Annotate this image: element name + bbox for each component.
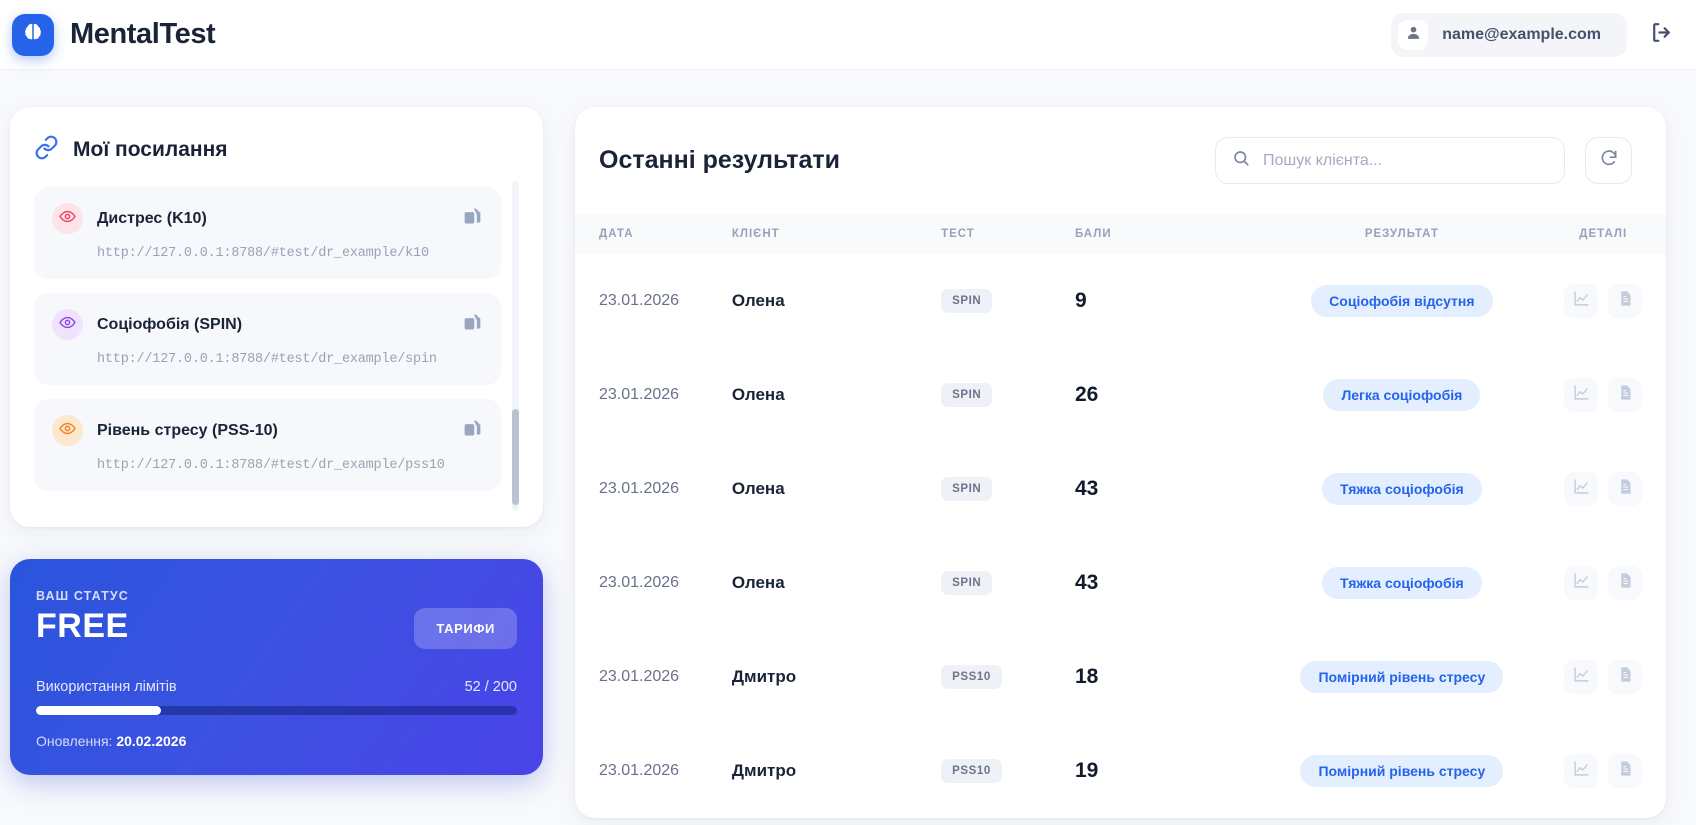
view-chart-button[interactable]: [1564, 284, 1598, 318]
test-tag: PSS10: [941, 759, 1002, 783]
column-header-test[interactable]: ТЕСТ: [941, 214, 1075, 254]
status-badge: Помірний рівень стресу: [1300, 755, 1503, 787]
cell-date: 23.01.2026: [575, 442, 732, 536]
limit-progress-fill: [36, 706, 161, 715]
user-icon: [1405, 24, 1422, 46]
chart-icon: [1573, 760, 1590, 782]
table-row[interactable]: 23.01.2026ОленаSPIN43Тяжка соціофобія: [575, 536, 1666, 630]
eye-icon: [59, 314, 76, 336]
chart-icon: [1573, 666, 1590, 688]
column-header-client[interactable]: КЛІЄНТ: [732, 214, 941, 254]
document-icon: [1617, 478, 1634, 500]
table-row[interactable]: 23.01.2026ДмитроPSS1018Помірний рівень с…: [575, 630, 1666, 724]
cell-result: Тяжка соціофобія: [1263, 442, 1540, 536]
cell-test: SPIN: [941, 348, 1075, 442]
copy-icon: [462, 312, 483, 338]
test-type-indicator: [52, 309, 83, 340]
chart-icon: [1573, 478, 1590, 500]
right-column: Останні результати: [575, 107, 1666, 818]
cell-client: Дмитро: [732, 724, 941, 818]
limit-progress-bar: [36, 706, 517, 715]
copy-link-button[interactable]: [462, 206, 483, 232]
cell-test: PSS10: [941, 724, 1075, 818]
cell-score: 43: [1075, 536, 1263, 630]
header-actions: name@example.com: [1391, 13, 1674, 57]
status-label: ВАШ СТАТУС: [36, 589, 517, 603]
cell-test: PSS10: [941, 630, 1075, 724]
test-tag: SPIN: [941, 383, 992, 407]
test-tag: SPIN: [941, 289, 992, 313]
cell-date: 23.01.2026: [575, 254, 732, 348]
cell-details: [1540, 442, 1666, 536]
test-type-indicator: [52, 415, 83, 446]
view-report-button[interactable]: [1608, 472, 1642, 506]
recent-results-card: Останні результати: [575, 107, 1666, 818]
page-title: Останні результати: [599, 146, 840, 175]
document-icon: [1617, 760, 1634, 782]
cell-client: Олена: [732, 254, 941, 348]
cell-date: 23.01.2026: [575, 536, 732, 630]
limit-value: 52 / 200: [465, 679, 517, 695]
cell-result: Тяжка соціофобія: [1263, 536, 1540, 630]
column-header-result[interactable]: РЕЗУЛЬТАТ: [1263, 214, 1540, 254]
my-links-title: Мої посилання: [73, 138, 228, 162]
view-report-button[interactable]: [1608, 754, 1642, 788]
view-chart-button[interactable]: [1564, 660, 1598, 694]
cell-score: 9: [1075, 254, 1263, 348]
search-box[interactable]: [1215, 137, 1565, 184]
test-tag: SPIN: [941, 477, 992, 501]
top-header: MentalTest name@example.com: [0, 0, 1696, 70]
link-url: http://127.0.0.1:8788/#test/dr_example/s…: [97, 352, 483, 367]
status-badge: Тяжка соціофобія: [1322, 473, 1482, 505]
plans-button[interactable]: ТАРИФИ: [414, 608, 517, 649]
view-report-button[interactable]: [1608, 284, 1642, 318]
my-links-header: Мої посилання: [34, 135, 519, 165]
link-title: Рівень стресу (PSS-10): [97, 422, 448, 440]
brand: MentalTest: [12, 14, 215, 56]
app-logo: [12, 14, 54, 56]
view-report-button[interactable]: [1608, 566, 1642, 600]
user-email: name@example.com: [1442, 26, 1601, 44]
avatar: [1398, 20, 1428, 50]
chart-icon: [1573, 290, 1590, 312]
cell-score: 26: [1075, 348, 1263, 442]
copy-link-button[interactable]: [462, 312, 483, 338]
renewal-date: 20.02.2026: [116, 733, 186, 749]
brain-icon: [22, 21, 44, 48]
cell-client: Олена: [732, 348, 941, 442]
cell-result: Помірний рівень стресу: [1263, 630, 1540, 724]
list-item[interactable]: Рівень стресу (PSS-10) http://127.0.0.1:…: [34, 399, 501, 491]
cell-details: [1540, 348, 1666, 442]
test-tag: PSS10: [941, 665, 1002, 689]
subscription-status-card: ВАШ СТАТУС FREE ТАРИФИ Використання лімі…: [10, 559, 543, 775]
copy-icon: [462, 418, 483, 444]
cell-details: [1540, 724, 1666, 818]
cell-date: 23.01.2026: [575, 348, 732, 442]
view-chart-button[interactable]: [1564, 754, 1598, 788]
logout-icon: [1649, 20, 1674, 50]
cell-score: 18: [1075, 630, 1263, 724]
chart-icon: [1573, 572, 1590, 594]
document-icon: [1617, 666, 1634, 688]
status-badge: Соціофобія відсутня: [1311, 285, 1492, 317]
renewal-row: Оновлення: 20.02.2026: [36, 733, 517, 749]
results-table: ДАТА КЛІЄНТ ТЕСТ БАЛИ РЕЗУЛЬТАТ ДЕТАЛІ 2…: [575, 214, 1666, 818]
test-tag: SPIN: [941, 571, 992, 595]
refresh-button[interactable]: [1585, 137, 1632, 184]
cell-details: [1540, 254, 1666, 348]
links-scrollbar[interactable]: [512, 181, 519, 511]
view-report-button[interactable]: [1608, 660, 1642, 694]
limit-row: Використання лімітів 52 / 200: [36, 679, 517, 695]
cell-result: Соціофобія відсутня: [1263, 254, 1540, 348]
link-url: http://127.0.0.1:8788/#test/dr_example/p…: [97, 458, 483, 473]
cell-test: SPIN: [941, 536, 1075, 630]
document-icon: [1617, 290, 1634, 312]
results-table-body: 23.01.2026ОленаSPIN9Соціофобія відсутня2…: [575, 254, 1666, 818]
cell-test: SPIN: [941, 254, 1075, 348]
refresh-icon: [1599, 148, 1619, 173]
view-report-button[interactable]: [1608, 378, 1642, 412]
status-badge: Тяжка соціофобія: [1322, 567, 1482, 599]
eye-icon: [59, 208, 76, 230]
view-chart-button[interactable]: [1564, 566, 1598, 600]
cell-result: Помірний рівень стресу: [1263, 724, 1540, 818]
cell-details: [1540, 630, 1666, 724]
table-row[interactable]: 23.01.2026ОленаSPIN43Тяжка соціофобія: [575, 442, 1666, 536]
cell-test: SPIN: [941, 442, 1075, 536]
column-header-details: ДЕТАЛІ: [1540, 214, 1666, 254]
table-row[interactable]: 23.01.2026ОленаSPIN26Легка соціофобія: [575, 348, 1666, 442]
table-row[interactable]: 23.01.2026ОленаSPIN9Соціофобія відсутня: [575, 254, 1666, 348]
renewal-label: Оновлення:: [36, 733, 112, 749]
status-badge: Помірний рівень стресу: [1300, 661, 1503, 693]
logout-button[interactable]: [1649, 20, 1674, 50]
link-icon: [34, 135, 59, 165]
chart-icon: [1573, 384, 1590, 406]
cell-result: Легка соціофобія: [1263, 348, 1540, 442]
brand-name: MentalTest: [70, 18, 215, 51]
link-url: http://127.0.0.1:8788/#test/dr_example/k…: [97, 246, 483, 261]
cell-date: 23.01.2026: [575, 724, 732, 818]
results-tools: [1215, 137, 1632, 184]
links-scrollbar-thumb[interactable]: [512, 409, 519, 505]
my-links-card: Мої посилання Дистрес (K: [10, 107, 543, 527]
cell-score: 19: [1075, 724, 1263, 818]
status-badge: Легка соціофобія: [1323, 379, 1480, 411]
link-title: Соціофобія (SPIN): [97, 316, 448, 334]
copy-link-button[interactable]: [462, 418, 483, 444]
limit-label: Використання лімітів: [36, 679, 177, 695]
cell-client: Олена: [732, 442, 941, 536]
test-type-indicator: [52, 203, 83, 234]
link-row: Рівень стресу (PSS-10): [52, 415, 483, 446]
document-icon: [1617, 384, 1634, 406]
cell-client: Дмитро: [732, 630, 941, 724]
table-row[interactable]: 23.01.2026ДмитроPSS1019Помірний рівень с…: [575, 724, 1666, 818]
view-chart-button[interactable]: [1564, 378, 1598, 412]
link-row: Соціофобія (SPIN): [52, 309, 483, 340]
link-title: Дистрес (K10): [97, 210, 448, 228]
cell-score: 43: [1075, 442, 1263, 536]
cell-client: Олена: [732, 536, 941, 630]
list-item[interactable]: Дистрес (K10) http://127.0.0.1:8788/#tes…: [34, 187, 501, 279]
search-icon: [1232, 149, 1250, 172]
table-header-row: ДАТА КЛІЄНТ ТЕСТ БАЛИ РЕЗУЛЬТАТ ДЕТАЛІ: [575, 214, 1666, 254]
column-header-date[interactable]: ДАТА: [575, 214, 732, 254]
links-list: Дистрес (K10) http://127.0.0.1:8788/#tes…: [34, 187, 519, 505]
search-input[interactable]: [1263, 152, 1548, 170]
page-body: Мої посилання Дистрес (K: [0, 70, 1696, 818]
view-chart-button[interactable]: [1564, 472, 1598, 506]
link-row: Дистрес (K10): [52, 203, 483, 234]
document-icon: [1617, 572, 1634, 594]
column-header-score[interactable]: БАЛИ: [1075, 214, 1263, 254]
copy-icon: [462, 206, 483, 232]
eye-icon: [59, 420, 76, 442]
list-item[interactable]: Соціофобія (SPIN) http://127.0.0.1:8788/…: [34, 293, 501, 385]
results-table-head: ДАТА КЛІЄНТ ТЕСТ БАЛИ РЕЗУЛЬТАТ ДЕТАЛІ: [575, 214, 1666, 254]
cell-date: 23.01.2026: [575, 630, 732, 724]
cell-details: [1540, 536, 1666, 630]
left-column: Мої посилання Дистрес (K: [10, 107, 543, 775]
user-chip[interactable]: name@example.com: [1391, 13, 1627, 57]
results-header: Останні результати: [575, 137, 1666, 184]
